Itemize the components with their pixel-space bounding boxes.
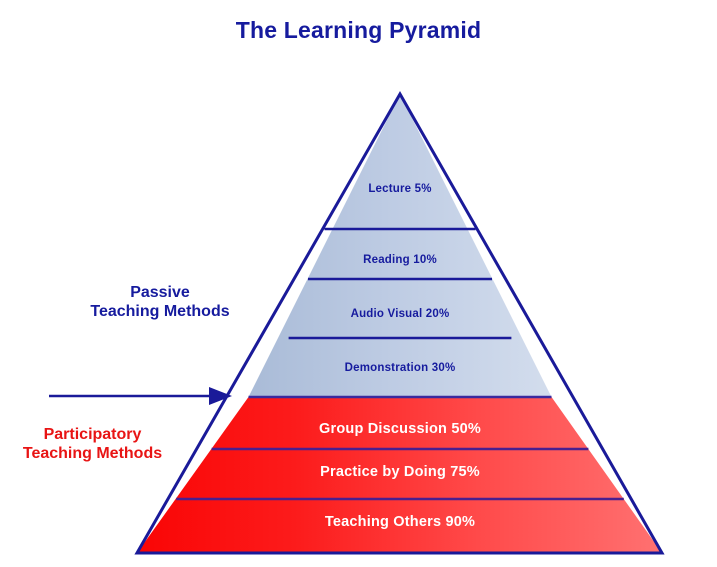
caption-passive-line1: Passive [60, 284, 260, 303]
participatory-pointer-arrow [49, 387, 232, 405]
caption-participatory-line2: Teaching Methods [0, 445, 185, 464]
learning-pyramid-diagram: The Learning Pyramid [0, 0, 717, 567]
caption-participatory-line1: Participatory [0, 426, 185, 445]
pyramid-participatory-region [137, 397, 662, 553]
pyramid-passive-region [249, 94, 552, 397]
caption-passive-line2: Teaching Methods [60, 303, 260, 322]
caption-participatory-teaching-methods: Participatory Teaching Methods [0, 426, 185, 464]
caption-passive-teaching-methods: Passive Teaching Methods [60, 284, 260, 322]
